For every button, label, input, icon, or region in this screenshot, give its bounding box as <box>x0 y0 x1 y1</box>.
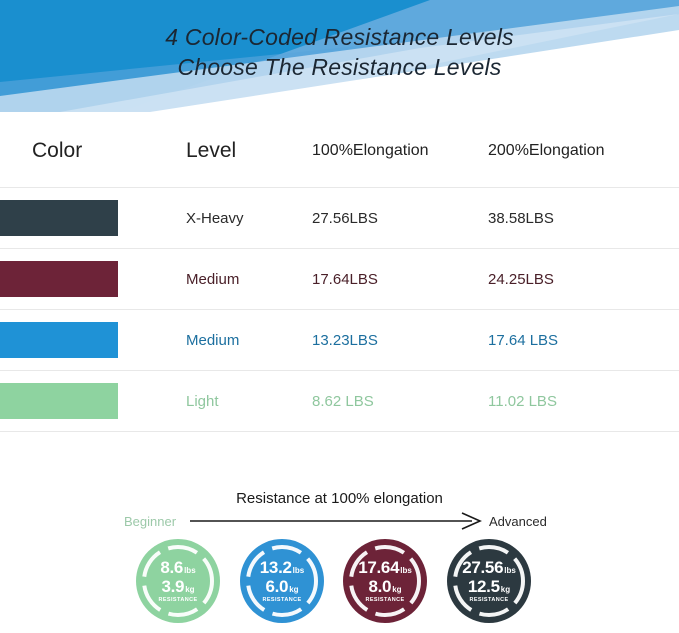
resistance-scale-section: Resistance at 100% elongation Beginner A… <box>0 472 679 633</box>
resistance-badge-x-heavy: 27.56 lbs 12.5 kg RESISTANCE <box>446 538 532 624</box>
badge-lbs-unit: lbs <box>504 567 516 575</box>
badge-caption: RESISTANCE <box>365 598 404 604</box>
badge-row: 8.6 lbs 3.9 kg RESISTANCE 13.2 <box>0 538 679 633</box>
badge-text: 17.64 lbs 8.0 kg RESISTANCE <box>342 538 428 624</box>
badge-kg-value: 12.5 <box>468 578 500 595</box>
cell-level: Light <box>186 393 219 410</box>
cell-100-elongation: 8.62 LBS <box>312 393 374 410</box>
badge-kg-unit: kg <box>392 586 401 594</box>
badge-kg-line: 12.5 kg <box>468 578 510 595</box>
table-row: Light 8.62 LBS 11.02 LBS <box>0 371 679 431</box>
column-header-level: Level <box>186 139 236 163</box>
cell-200-elongation: 24.25LBS <box>488 271 554 288</box>
badge-caption: RESISTANCE <box>469 598 508 604</box>
column-header-200-elongation: 200%Elongation <box>488 142 605 160</box>
table-header-row: Color Level 100%Elongation 200%Elongatio… <box>0 112 679 187</box>
scale-label-advanced: Advanced <box>489 514 547 529</box>
color-swatch-x-heavy <box>0 200 118 236</box>
badge-lbs-unit: lbs <box>184 567 196 575</box>
cell-200-elongation: 11.02 LBS <box>488 393 557 410</box>
badge-kg-value: 3.9 <box>161 578 184 595</box>
badge-lbs-line: 13.2 lbs <box>260 559 304 576</box>
title-line-2: Choose The Resistance Levels <box>0 52 679 82</box>
badge-lbs-unit: lbs <box>400 567 412 575</box>
column-header-color: Color <box>32 139 82 163</box>
badge-text: 13.2 lbs 6.0 kg RESISTANCE <box>239 538 325 624</box>
badge-kg-unit: kg <box>501 586 510 594</box>
badge-caption: RESISTANCE <box>158 598 197 604</box>
color-swatch-medium-blue <box>0 322 118 358</box>
cell-200-elongation: 17.64 LBS <box>488 332 558 349</box>
scale-caption: Resistance at 100% elongation <box>0 490 679 507</box>
scale-row: Resistance at 100% elongation Beginner A… <box>0 490 679 540</box>
table-row: X-Heavy 27.56LBS 38.58LBS <box>0 188 679 248</box>
color-swatch-light-green <box>0 383 118 419</box>
cell-100-elongation: 27.56LBS <box>312 210 378 227</box>
badge-lbs-value: 17.64 <box>358 559 399 576</box>
badge-kg-line: 6.0 kg <box>265 578 298 595</box>
badge-lbs-value: 13.2 <box>260 559 292 576</box>
cell-100-elongation: 13.23LBS <box>312 332 378 349</box>
cell-200-elongation: 38.58LBS <box>488 210 554 227</box>
header-banner: 4 Color-Coded Resistance Levels Choose T… <box>0 0 679 112</box>
resistance-table: Color Level 100%Elongation 200%Elongatio… <box>0 112 679 432</box>
badge-text: 27.56 lbs 12.5 kg RESISTANCE <box>446 538 532 624</box>
badge-lbs-value: 27.56 <box>462 559 503 576</box>
badge-kg-unit: kg <box>185 586 194 594</box>
badge-lbs-line: 17.64 lbs <box>358 559 412 576</box>
table-row: Medium 17.64LBS 24.25LBS <box>0 249 679 309</box>
badge-kg-value: 6.0 <box>265 578 288 595</box>
cell-level: Medium <box>186 271 239 288</box>
cell-level: X-Heavy <box>186 210 244 227</box>
cell-100-elongation: 17.64LBS <box>312 271 378 288</box>
scale-label-beginner: Beginner <box>124 514 176 529</box>
badge-caption: RESISTANCE <box>262 598 301 604</box>
color-swatch-medium-maroon <box>0 261 118 297</box>
resistance-badge-medium-maroon: 17.64 lbs 8.0 kg RESISTANCE <box>342 538 428 624</box>
badge-kg-line: 3.9 kg <box>161 578 194 595</box>
resistance-badge-light: 8.6 lbs 3.9 kg RESISTANCE <box>135 538 221 624</box>
page-title: 4 Color-Coded Resistance Levels Choose T… <box>0 22 679 82</box>
badge-text: 8.6 lbs 3.9 kg RESISTANCE <box>135 538 221 624</box>
badge-lbs-line: 27.56 lbs <box>462 559 516 576</box>
badge-lbs-line: 8.6 lbs <box>160 559 195 576</box>
arrow-icon <box>190 512 482 530</box>
badge-lbs-unit: lbs <box>293 567 305 575</box>
column-header-100-elongation: 100%Elongation <box>312 142 429 160</box>
badge-kg-unit: kg <box>289 586 298 594</box>
badge-kg-value: 8.0 <box>368 578 391 595</box>
cell-level: Medium <box>186 332 239 349</box>
title-line-1: 4 Color-Coded Resistance Levels <box>165 24 513 50</box>
resistance-badge-medium-blue: 13.2 lbs 6.0 kg RESISTANCE <box>239 538 325 624</box>
table-row: Medium 13.23LBS 17.64 LBS <box>0 310 679 370</box>
badge-kg-line: 8.0 kg <box>368 578 401 595</box>
table-divider <box>0 431 679 432</box>
badge-lbs-value: 8.6 <box>160 559 183 576</box>
